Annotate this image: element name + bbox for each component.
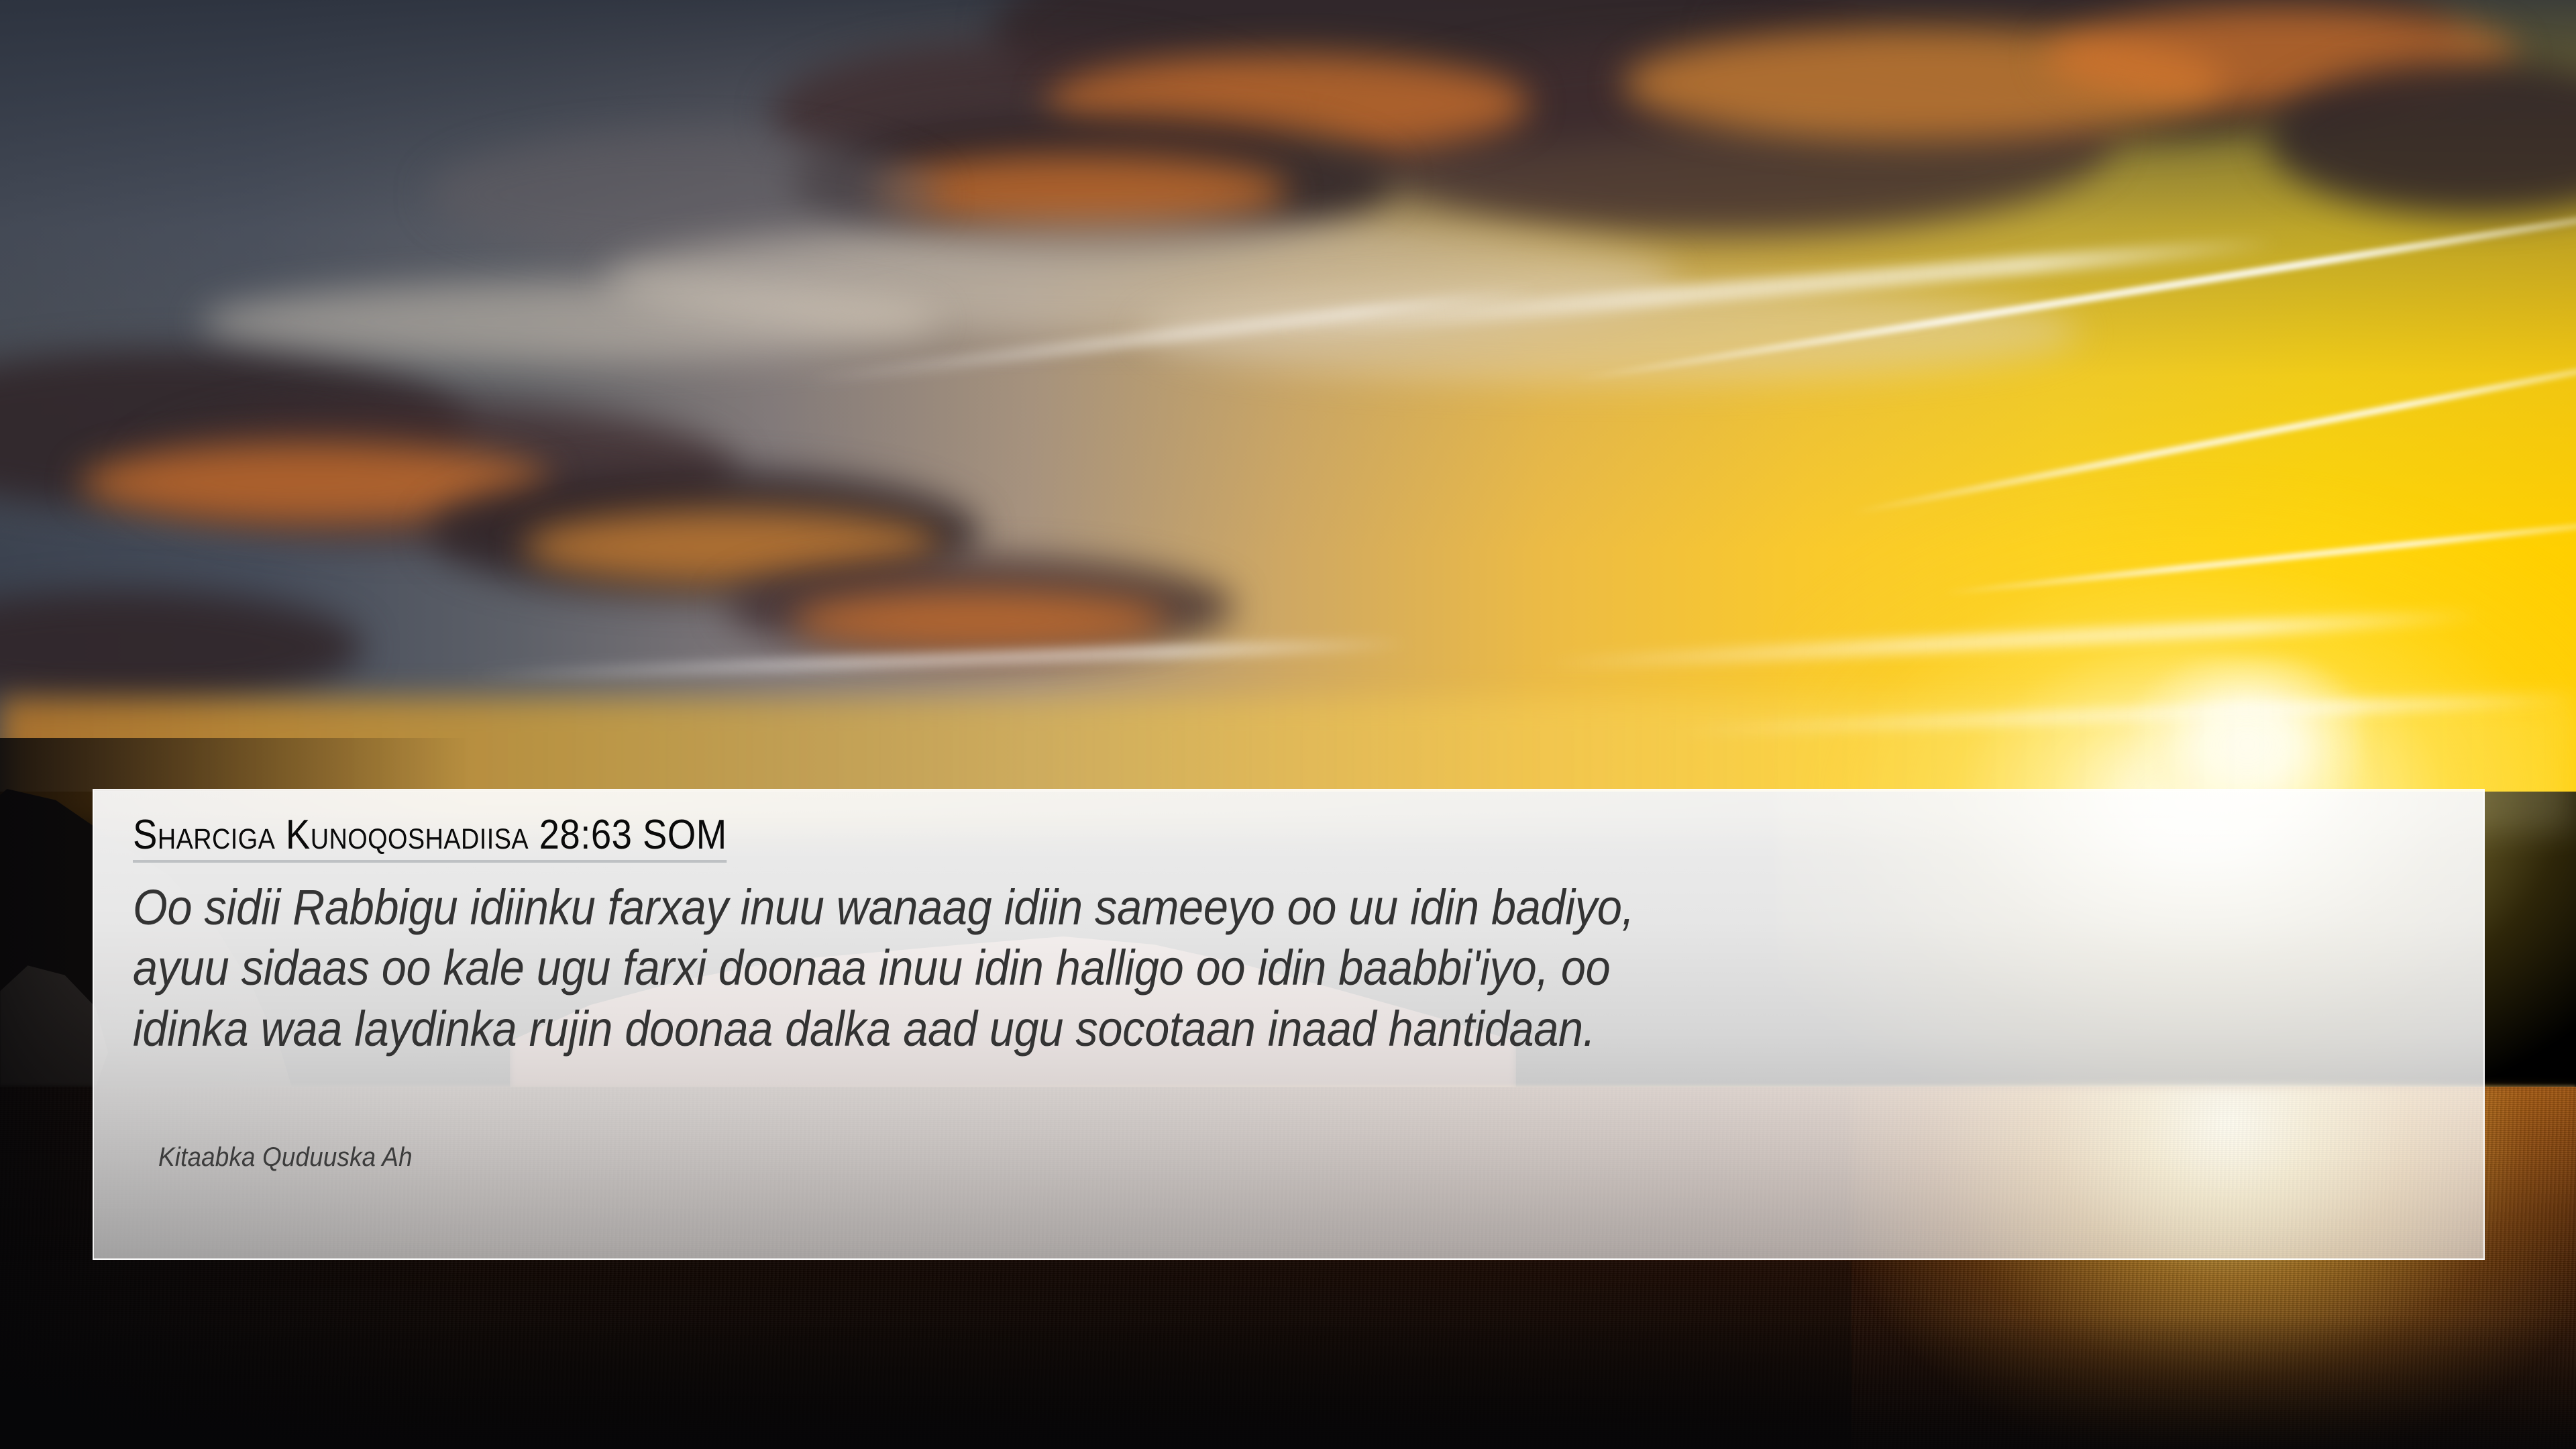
- verse-body-text: Oo sidii Rabbigu idiinku farxay inuu wan…: [133, 877, 2443, 1059]
- vignette-bottom: [0, 1315, 2576, 1449]
- verse-line: ayuu sidaas oo kale ugu farxi doonaa inu…: [133, 938, 2443, 998]
- verse-line: idinka waa laydinka rujin doonaa dalka a…: [133, 999, 2443, 1059]
- verse-attribution: Kitaabka Quduuska Ah: [158, 1142, 413, 1173]
- cloud-pale-left: [201, 282, 939, 362]
- verse-image-canvas: Sharciga Kunoqoshadiisa 28:63 SOM Oo sid…: [0, 0, 2576, 1449]
- verse-reference-title: Sharciga Kunoqoshadiisa 28:63 SOM: [133, 814, 727, 863]
- cloud-ember-low: [792, 590, 1167, 651]
- verse-title-container: Sharciga Kunoqoshadiisa 28:63 SOM: [133, 814, 2445, 863]
- verse-line: Oo sidii Rabbigu idiinku farxay inuu wan…: [133, 877, 2443, 938]
- verse-card: Sharciga Kunoqoshadiisa 28:63 SOM Oo sid…: [93, 789, 2485, 1260]
